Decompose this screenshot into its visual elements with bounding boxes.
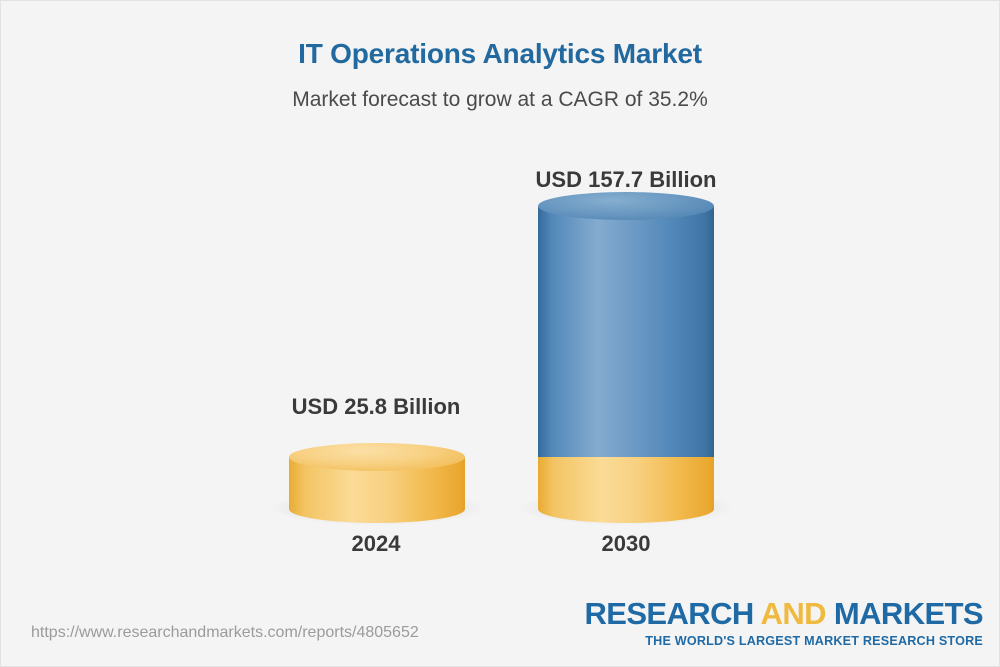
brand-word-research: RESEARCH xyxy=(584,596,753,631)
infographic-canvas: IT Operations Analytics Market Market fo… xyxy=(0,0,1000,667)
cylinder-body xyxy=(538,206,714,457)
value-label-2024: USD 25.8 Billion xyxy=(216,394,536,420)
source-url[interactable]: https://www.researchandmarkets.com/repor… xyxy=(31,624,419,642)
chart-footer: https://www.researchandmarkets.com/repor… xyxy=(1,576,1000,666)
brand-tagline: THE WORLD'S LARGEST MARKET RESEARCH STOR… xyxy=(584,629,983,648)
brand-word-and: AND xyxy=(761,596,826,631)
brand-logo[interactable]: RESEARCH AND MARKETS THE WORLD'S LARGEST… xyxy=(584,598,983,648)
bar-segment-2030-growth xyxy=(538,206,714,457)
cylinder-body xyxy=(538,457,714,509)
chart-header: IT Operations Analytics Market Market fo… xyxy=(1,1,999,112)
bar-2030 xyxy=(538,206,714,509)
bar-segment-2030-base xyxy=(538,457,714,509)
chart-plot-area: USD 25.8 Billion USD 157.7 Billion xyxy=(1,131,1000,571)
brand-word-markets: MARKETS xyxy=(834,596,983,631)
bar-2024 xyxy=(289,457,465,509)
brand-name: RESEARCH AND MARKETS xyxy=(584,598,983,629)
chart-subtitle: Market forecast to grow at a CAGR of 35.… xyxy=(1,71,999,112)
cylinder-top-cap xyxy=(538,192,714,220)
value-label-2030: USD 157.7 Billion xyxy=(466,167,786,193)
category-label-2030: 2030 xyxy=(466,531,786,557)
bar-segment-2024-base xyxy=(289,457,465,509)
cylinder-top-cap xyxy=(289,443,465,471)
page-title: IT Operations Analytics Market xyxy=(1,37,999,71)
